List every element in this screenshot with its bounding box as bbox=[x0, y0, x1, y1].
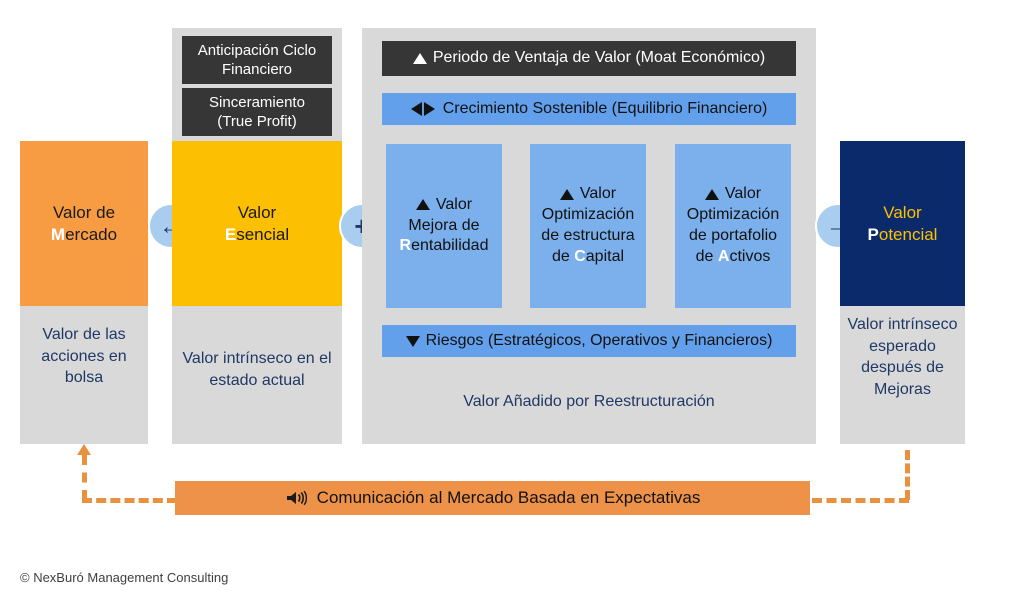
card-0-line1: Valor bbox=[400, 195, 489, 216]
card-1-line2: Optimización bbox=[541, 205, 634, 226]
risk-bar[interactable]: Riesgos (Estratégicos, Operativos y Fina… bbox=[382, 325, 796, 357]
essential-tag-1-line2: (True Profit) bbox=[209, 112, 305, 132]
essential-tag-ciclo-financiero[interactable]: Anticipación Ciclo Financiero bbox=[182, 36, 332, 84]
potential-value-line1: Valor bbox=[868, 202, 938, 223]
growth-bar[interactable]: Crecimiento Sostenible (Equilibrio Finan… bbox=[382, 93, 796, 125]
card-portafolio-activos[interactable]: Valor Optimización de portafolio de Acti… bbox=[675, 144, 791, 308]
essential-value-block[interactable]: Valor Esencial bbox=[172, 141, 342, 306]
growth-bar-label: Crecimiento Sostenible (Equilibrio Finan… bbox=[443, 100, 768, 118]
market-value-rest: ercado bbox=[65, 225, 117, 244]
triangle-up-icon bbox=[416, 199, 430, 210]
essential-value-rest: sencial bbox=[236, 225, 289, 244]
card-1-line1: Valor bbox=[541, 184, 634, 205]
copyright-notice: © NexBuró Management Consulting bbox=[20, 570, 228, 585]
card-rentabilidad[interactable]: Valor Mejora de Rentabilidad bbox=[386, 144, 502, 308]
card-2-line2: Optimización bbox=[687, 205, 779, 226]
essential-value-initial: E bbox=[225, 225, 236, 244]
potential-value-block[interactable]: Valor Potencial bbox=[840, 141, 965, 306]
card-1-line4: de Capital bbox=[541, 247, 634, 268]
feedback-line-right-horizontal bbox=[812, 498, 909, 503]
feedback-line-left-vertical bbox=[82, 455, 87, 500]
essential-value-line1: Valor bbox=[225, 202, 289, 223]
card-2-line3: de portafolio bbox=[687, 226, 779, 247]
market-description: Valor de las acciones en bolsa bbox=[20, 306, 148, 444]
card-1-initial: C bbox=[574, 248, 586, 265]
potential-description: Valor intrínseco esperado después de Mej… bbox=[840, 306, 965, 444]
card-2-initial: A bbox=[718, 248, 730, 265]
card-0-line2: Mejora de bbox=[400, 216, 489, 237]
feedback-line-right-vertical bbox=[905, 450, 910, 500]
market-value-line2: Mercado bbox=[51, 224, 117, 245]
feedback-arrowhead-left bbox=[77, 444, 91, 455]
megaphone-icon bbox=[285, 489, 307, 507]
essential-tag-1-line1: Sinceramiento bbox=[209, 93, 305, 113]
card-2-line4: de Activos bbox=[687, 247, 779, 268]
triangle-up-icon bbox=[413, 53, 427, 64]
essential-value-line2: Esencial bbox=[225, 224, 289, 245]
card-1-line3: de estructura bbox=[541, 226, 634, 247]
card-2-line1: Valor bbox=[687, 184, 779, 205]
market-value-initial: M bbox=[51, 225, 65, 244]
essential-tag-0-line2: Financiero bbox=[198, 60, 316, 80]
restructuring-caption: Valor Añadido por Reestructuración bbox=[362, 393, 816, 411]
card-estructura-capital[interactable]: Valor Optimización de estructura de Capi… bbox=[530, 144, 646, 308]
triangle-up-icon bbox=[560, 189, 574, 200]
card-0-initial: R bbox=[400, 237, 412, 254]
essential-description: Valor intrínseco en el estado actual bbox=[176, 338, 338, 444]
market-value-line1: Valor de bbox=[51, 202, 117, 223]
triangle-up-icon bbox=[705, 189, 719, 200]
moat-bar-label: Periodo de Ventaja de Valor (Moat Económ… bbox=[433, 48, 765, 69]
essential-tag-0-line1: Anticipación Ciclo bbox=[198, 41, 316, 61]
market-value-block[interactable]: Valor de Mercado bbox=[20, 141, 148, 306]
diagram-canvas: Valor de Mercado Valor de las acciones e… bbox=[0, 0, 1024, 599]
communication-bar-label: Comunicación al Mercado Basada en Expect… bbox=[317, 488, 701, 508]
potential-value-line2: Potencial bbox=[868, 224, 938, 245]
potential-value-initial: P bbox=[868, 225, 879, 244]
left-right-arrows-icon bbox=[411, 100, 435, 118]
risk-bar-label: Riesgos (Estratégicos, Operativos y Fina… bbox=[426, 332, 773, 350]
moat-bar[interactable]: Periodo de Ventaja de Valor (Moat Económ… bbox=[382, 41, 796, 76]
triangle-down-icon bbox=[406, 336, 420, 347]
feedback-line-left-horizontal bbox=[82, 498, 177, 503]
potential-value-rest: otencial bbox=[879, 225, 938, 244]
card-0-line3: Rentabilidad bbox=[400, 236, 489, 257]
essential-tag-sinceramiento[interactable]: Sinceramiento (True Profit) bbox=[182, 88, 332, 136]
communication-bar[interactable]: Comunicación al Mercado Basada en Expect… bbox=[175, 481, 810, 515]
